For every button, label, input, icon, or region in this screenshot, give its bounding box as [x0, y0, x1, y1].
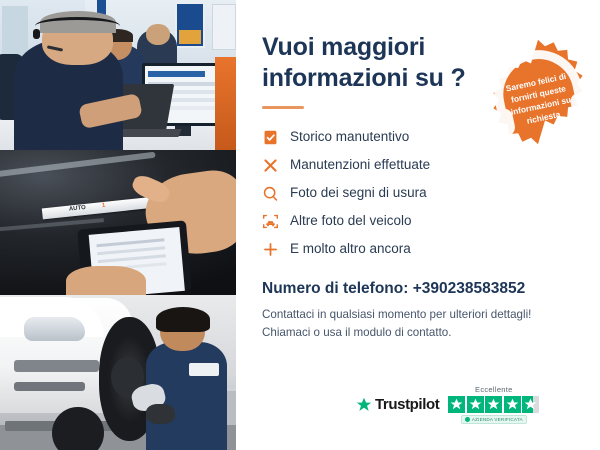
mechanic-hair	[156, 307, 210, 332]
crossed-wrench-icon	[262, 157, 279, 174]
wall-board	[212, 4, 236, 50]
trustpilot-rating: Eccellente AZIENDA VERIFICATA	[448, 385, 539, 424]
wheel-service-photo	[0, 295, 236, 450]
list-item: E molto altro ancora	[262, 235, 576, 263]
star-2	[467, 396, 484, 413]
list-item-label: Foto dei segni di usura	[290, 186, 427, 200]
star-rating	[448, 396, 539, 413]
headset-band	[35, 17, 120, 35]
background-agent-3-head	[146, 24, 170, 45]
contact-instructions: Contattaci in qualsiasi momento per ulte…	[262, 306, 576, 342]
content-panel: Vuoi maggiori informazioni su ? Storico …	[236, 0, 600, 450]
phone-number[interactable]: Numero di telefono: +390238583852	[262, 280, 576, 298]
car-headlight	[24, 317, 85, 342]
car-frame-icon	[262, 213, 279, 230]
info-on-request-badge: Saremo felici di fornirti queste informa…	[484, 38, 592, 146]
verified-label: AZIENDA VERIFICATA	[472, 417, 523, 422]
photo-column: AUTO1	[0, 0, 236, 450]
list-item-label: Manutenzioni effettuate	[290, 158, 430, 172]
star-1	[448, 396, 465, 413]
trustpilot-widget[interactable]: Trustpilot Eccellente AZIENDA VERIFICATA	[356, 385, 539, 424]
trustpilot-logo: Trustpilot	[356, 396, 439, 413]
hand-lower	[66, 266, 146, 295]
star-3	[485, 396, 502, 413]
mechanic-glove-right	[146, 404, 174, 424]
verified-company-badge: AZIENDA VERIFICATA	[461, 415, 527, 424]
verified-check-icon	[465, 417, 470, 422]
contact-instructions-line1: Contattaci in qualsiasi momento per ulte…	[262, 308, 531, 321]
title-underline-accent	[262, 106, 304, 109]
car-grille	[14, 360, 99, 372]
list-item-label: E molto altro ancora	[290, 242, 411, 256]
car-lower-grille	[14, 382, 85, 391]
magnifier-icon	[262, 185, 279, 202]
list-item: Manutenzioni effettuate	[262, 151, 576, 179]
uniform-logo-patch	[189, 363, 220, 375]
star-4	[504, 396, 521, 413]
vehicle-inspection-photo: AUTO1	[0, 150, 236, 295]
trustpilot-star-icon	[356, 397, 372, 413]
advertisement-banner: AUTO1 Vu	[0, 0, 600, 450]
plus-icon	[262, 241, 279, 258]
list-item: Altre foto del veicolo	[262, 207, 576, 235]
contact-instructions-line2: Chiamaci o usa il modulo di contatto.	[262, 326, 451, 339]
rating-label: Eccellente	[475, 385, 513, 394]
call-center-photo	[0, 0, 236, 150]
list-item-label: Storico manutentivo	[290, 130, 409, 144]
wall-poster	[175, 2, 205, 48]
headset-earcup	[33, 29, 40, 39]
star-5-partial	[522, 396, 539, 413]
clipboard-check-icon	[262, 129, 279, 146]
headset-icon	[520, 58, 545, 78]
trustpilot-wordmark: Trustpilot	[375, 396, 439, 413]
list-item: Foto dei segni di usura	[262, 179, 576, 207]
orange-panel	[215, 57, 236, 150]
list-item-label: Altre foto del veicolo	[290, 214, 412, 228]
